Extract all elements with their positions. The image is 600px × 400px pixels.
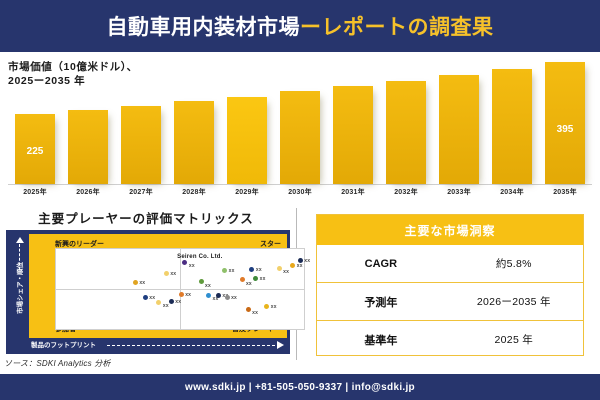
bar-wrapper bbox=[121, 106, 161, 184]
x-axis-arrow-icon bbox=[277, 341, 284, 349]
source-note: ソース：SDKI Analytics 分析 bbox=[4, 358, 111, 369]
matrix-point-label: xx bbox=[252, 310, 258, 316]
insights-row-value: 2026ー2035 年 bbox=[445, 294, 583, 309]
matrix-point-label: xx bbox=[139, 280, 145, 286]
matrix-point-label: xx bbox=[260, 276, 266, 282]
axis-tick-2031年: 2031年 bbox=[330, 187, 376, 197]
axis-tick-2025年: 2025年 bbox=[12, 187, 58, 197]
matrix-point-label: xx bbox=[256, 267, 262, 273]
insights-row-key: CAGR bbox=[317, 258, 445, 270]
insights-row: CAGR約5.8% bbox=[317, 245, 583, 282]
matrix-point bbox=[290, 263, 295, 268]
insights-header-label: 主要な市場洞察 bbox=[404, 222, 495, 239]
matrix-point bbox=[277, 266, 282, 271]
chart-axis-line bbox=[8, 184, 592, 185]
bar-wrapper bbox=[174, 101, 214, 184]
matrix-point-label: xx bbox=[149, 295, 155, 301]
matrix-point bbox=[164, 271, 169, 276]
axis-tick-2027年: 2027年 bbox=[118, 187, 164, 197]
page-header: 自動車用内装材市場ーレポートの調査果 bbox=[0, 0, 600, 52]
footer-contact-text: www.sdki.jp | +81-505-050-9337 | info@sd… bbox=[185, 382, 415, 393]
page-footer: www.sdki.jp | +81-505-050-9337 | info@sd… bbox=[0, 374, 600, 400]
bar-wrapper bbox=[492, 69, 532, 184]
matrix-brand-label: Seiren Co. Ltd. bbox=[177, 254, 222, 260]
x-axis-dashed-line bbox=[107, 345, 275, 346]
bar-wrapper bbox=[280, 91, 320, 184]
insights-row: 基準年2025 年 bbox=[317, 320, 583, 358]
matrix-y-axis-label: 市場シェア・順位 bbox=[14, 248, 24, 328]
market-value-bar-chart: 市場価値（10億米ドル）、 2025ー2035 年 2252025年2026年2… bbox=[0, 54, 600, 206]
matrix-point bbox=[179, 292, 184, 297]
axis-tick-2028年: 2028年 bbox=[171, 187, 217, 197]
bar-2033年 bbox=[439, 75, 479, 184]
lower-section: 主要プレーヤーの評価マトリックス 市場シェア・順位 新興のリーダー スター 参加… bbox=[0, 206, 600, 370]
bar-2029年 bbox=[227, 97, 267, 184]
axis-tick-2026年: 2026年 bbox=[65, 187, 111, 197]
matrix-point bbox=[246, 307, 251, 312]
matrix-point bbox=[143, 295, 148, 300]
page-title: 自動車用内装材市場ーレポートの調査果 bbox=[107, 11, 494, 41]
page-title-main: 自動車用内装材市場 bbox=[107, 16, 301, 39]
matrix-point bbox=[199, 279, 204, 284]
matrix-point bbox=[133, 280, 138, 285]
matrix-point bbox=[169, 299, 174, 304]
bar-wrapper bbox=[386, 81, 426, 184]
matrix-point-label: xx bbox=[231, 295, 237, 301]
evaluation-matrix: 市場シェア・順位 新興のリーダー スター 参加者 普及プレーヤー Seiren … bbox=[6, 230, 290, 354]
axis-tick-2032年: 2032年 bbox=[383, 187, 429, 197]
chart-plot-area: 2252025年2026年2027年2028年2029年2030年2031年20… bbox=[8, 54, 592, 184]
matrix-point bbox=[156, 300, 161, 305]
key-insights-table: 主要な市場洞察 CAGR約5.8%予測年2026ー2035 年基準年2025 年 bbox=[316, 214, 584, 356]
matrix-point-label: xx bbox=[175, 299, 181, 305]
matrix-scatter-area: Seiren Co. Ltd. xxxxxxxxxxxxxxxxxxxxxxxx… bbox=[55, 248, 305, 330]
matrix-point-label: xx bbox=[170, 271, 176, 277]
page-title-accent: ーレポートの調査果 bbox=[300, 16, 494, 39]
insights-row: 予測年2026ー2035 年 bbox=[317, 282, 583, 320]
insights-row-key: 予測年 bbox=[317, 294, 445, 310]
matrix-point-label: xx bbox=[297, 263, 303, 269]
matrix-point-label: xx bbox=[185, 292, 191, 298]
bar-2025年: 225 bbox=[15, 114, 55, 184]
matrix-point bbox=[182, 260, 187, 265]
matrix-x-axis: 製品のフットプリント bbox=[29, 337, 287, 351]
bar-value-label: 225 bbox=[15, 146, 55, 157]
matrix-title: 主要プレーヤーの評価マトリックス bbox=[0, 208, 292, 227]
axis-tick-2033年: 2033年 bbox=[436, 187, 482, 197]
axis-tick-2035年: 2035年 bbox=[542, 187, 588, 197]
bar-2030年 bbox=[280, 91, 320, 184]
matrix-point bbox=[253, 276, 258, 281]
insights-rows: CAGR約5.8%予測年2026ー2035 年基準年2025 年 bbox=[317, 245, 583, 358]
matrix-x-axis-label: 製品のフットプリント bbox=[31, 339, 96, 349]
matrix-point-label: xx bbox=[163, 303, 169, 309]
axis-tick-2034年: 2034年 bbox=[489, 187, 535, 197]
matrix-point-label: xx bbox=[283, 269, 289, 275]
bar-2028年 bbox=[174, 101, 214, 184]
insights-header: 主要な市場洞察 bbox=[317, 215, 583, 245]
matrix-point bbox=[206, 293, 211, 298]
matrix-gold-panel: 新興のリーダー スター 参加者 普及プレーヤー Seiren Co. Ltd. … bbox=[29, 234, 287, 338]
matrix-y-axis: 市場シェア・順位 bbox=[10, 237, 27, 337]
bar-wrapper bbox=[439, 75, 479, 184]
axis-tick-2030年: 2030年 bbox=[277, 187, 323, 197]
matrix-point-label: xx bbox=[229, 268, 235, 274]
bar-2027年 bbox=[121, 106, 161, 184]
matrix-point-label: xx bbox=[246, 281, 252, 287]
matrix-point-label: xx bbox=[189, 263, 195, 269]
y-axis-arrow-icon bbox=[16, 237, 24, 243]
matrix-point bbox=[298, 258, 303, 263]
bar-2035年: 395 bbox=[545, 62, 585, 184]
axis-tick-2029年: 2029年 bbox=[224, 187, 270, 197]
matrix-point bbox=[249, 267, 254, 272]
matrix-point bbox=[240, 277, 245, 282]
bar-wrapper: 225 bbox=[15, 114, 55, 184]
matrix-point-label: xx bbox=[271, 304, 277, 310]
quadrant-horizontal-divider bbox=[56, 289, 304, 290]
bar-value-label: 395 bbox=[545, 124, 585, 135]
matrix-point-label: xx bbox=[304, 258, 310, 264]
bar-wrapper bbox=[333, 86, 373, 184]
insights-row-key: 基準年 bbox=[317, 332, 445, 348]
bar-2026年 bbox=[68, 110, 108, 184]
insights-row-value: 2025 年 bbox=[445, 332, 583, 347]
bar-2034年 bbox=[492, 69, 532, 184]
matrix-point bbox=[216, 293, 221, 298]
bar-wrapper: 395 bbox=[545, 62, 585, 184]
matrix-point bbox=[222, 268, 227, 273]
bar-wrapper bbox=[68, 110, 108, 184]
matrix-point bbox=[264, 304, 269, 309]
matrix-point-label: xx bbox=[205, 283, 211, 289]
bar-wrapper bbox=[227, 97, 267, 184]
insights-row-value: 約5.8% bbox=[445, 256, 583, 271]
bar-2031年 bbox=[333, 86, 373, 184]
bar-2032年 bbox=[386, 81, 426, 184]
matrix-point bbox=[225, 295, 230, 300]
